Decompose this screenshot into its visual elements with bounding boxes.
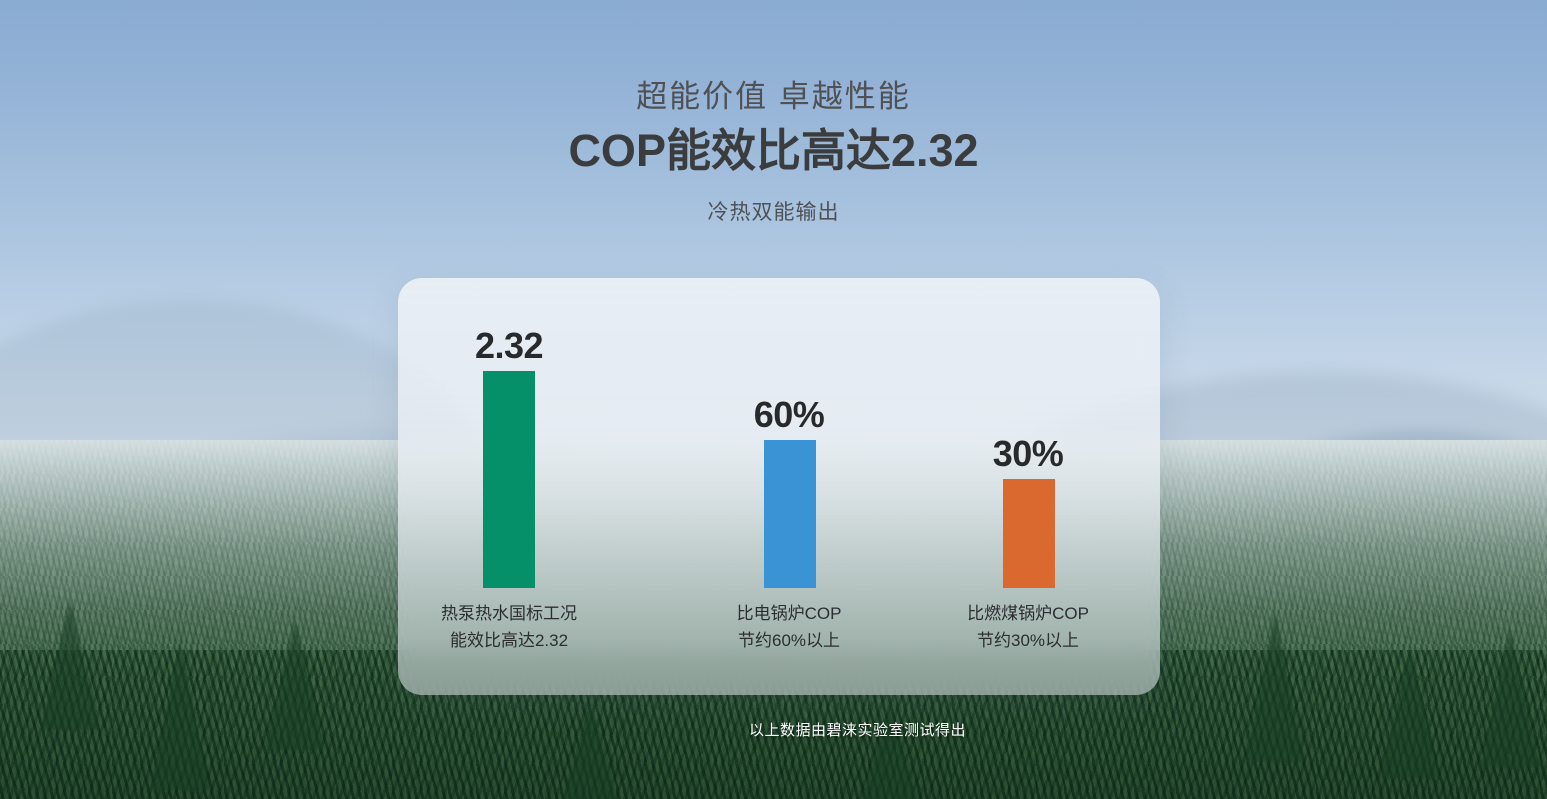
bar-caption-line-1: 比电锅炉COP <box>669 600 909 627</box>
conifer-tree <box>560 700 620 799</box>
bar-rect-green <box>483 371 535 588</box>
footnote-text: 以上数据由碧涞实验室测试得出 <box>749 722 966 739</box>
bar-rect-blue <box>764 440 816 588</box>
bar-caption-line-2: 能效比高达2.32 <box>389 627 629 654</box>
bar-group-coal-boiler: 30% 比燃煤锅炉COP 节约30%以上 <box>908 278 1148 695</box>
bar-caption: 比电锅炉COP 节约60%以上 <box>669 600 909 654</box>
conifer-tree <box>1380 648 1440 778</box>
bar-value-label: 60% <box>669 394 909 436</box>
poster-canvas: 超能价值 卓越性能 COP能效比高达2.32 冷热双能输出 2.32 热泵热水国… <box>0 0 1547 799</box>
bar-value-label: 30% <box>908 433 1148 475</box>
header-block: 超能价值 卓越性能 COP能效比高达2.32 冷热双能输出 <box>0 78 1547 226</box>
bar-group-electric-boiler: 60% 比电锅炉COP 节约60%以上 <box>669 278 909 695</box>
conifer-tree <box>1480 628 1540 768</box>
header-eyebrow: 超能价值 卓越性能 <box>0 78 1547 117</box>
conifer-tree <box>40 600 100 730</box>
bar-group-heat-pump: 2.32 热泵热水国标工况 能效比高达2.32 <box>389 278 629 695</box>
bar-value-label: 2.32 <box>389 325 629 367</box>
footnote: 以上数据由碧涞实验室测试得出 <box>0 719 1547 740</box>
page-title: COP能效比高达2.32 <box>0 121 1547 182</box>
bar-caption-line-2: 节约60%以上 <box>669 627 909 654</box>
bar-caption-line-2: 节约30%以上 <box>908 627 1148 654</box>
header-subtitle: 冷热双能输出 <box>0 196 1547 226</box>
bar-chart: 2.32 热泵热水国标工况 能效比高达2.32 60% 比电锅炉COP 节约60… <box>398 278 1160 695</box>
bar-caption-line-1: 比燃煤锅炉COP <box>908 600 1148 627</box>
bar-rect-orange <box>1003 479 1055 588</box>
bar-caption: 比燃煤锅炉COP 节约30%以上 <box>908 600 1148 654</box>
conifer-tree <box>150 640 210 790</box>
bar-caption: 热泵热水国标工况 能效比高达2.32 <box>389 600 629 654</box>
bar-caption-line-1: 热泵热水国标工况 <box>389 600 629 627</box>
